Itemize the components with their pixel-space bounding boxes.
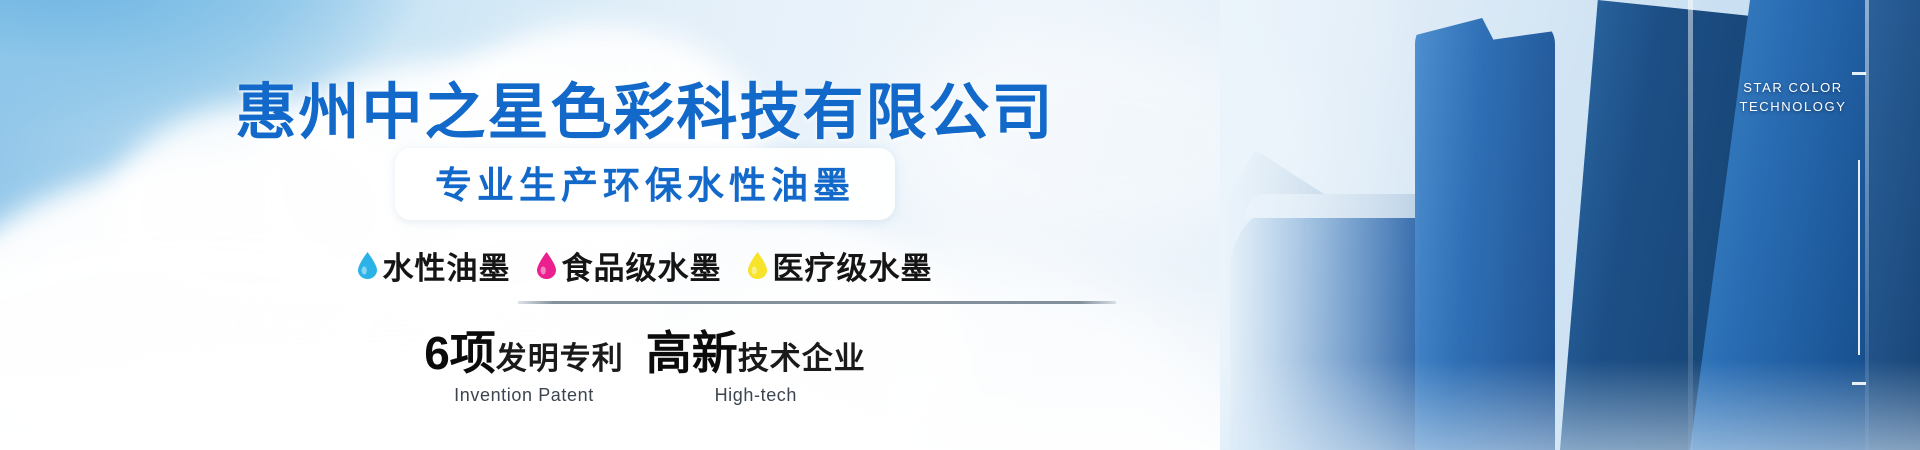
ink-type-label: 食品级水墨 (562, 243, 722, 288)
credential-badge-rest: 技术企业 (738, 341, 866, 376)
ink-type-label: 医疗级水墨 (773, 243, 933, 288)
droplet-icon (358, 252, 377, 279)
credential-badge: 6项发明专利Invention Patent (424, 330, 624, 406)
section-divider (518, 301, 1116, 304)
corner-brand-mark: STAR COLOR TECHNOLOGY (1718, 78, 1868, 116)
tagline-pill: 专业生产环保水性油墨 (395, 148, 895, 220)
credential-badge-english: High-tech (646, 385, 866, 406)
credential-badge-english: Invention Patent (424, 385, 624, 406)
accent-dash-bottom (1852, 382, 1866, 385)
droplet-icon (537, 252, 556, 279)
credential-badge-chinese: 6项发明专利 (424, 330, 624, 376)
credential-badge-emphasis: 高新 (646, 327, 738, 379)
credential-badge-list: 6项发明专利Invention Patent高新技术企业High-tech (0, 330, 1290, 406)
credential-badge-emphasis: 6项 (424, 327, 496, 379)
ink-type-item: 食品级水墨 (537, 243, 722, 288)
credential-badge-rest: 发明专利 (496, 341, 624, 376)
banner-content: 惠州中之星色彩科技有限公司 专业生产环保水性油墨 水性油墨食品级水墨医疗级水墨 … (0, 0, 1290, 450)
tagline-pill-wrapper: 专业生产环保水性油墨 (0, 148, 1290, 220)
credential-badge: 高新技术企业High-tech (646, 330, 866, 406)
skyline-photo (1220, 0, 1920, 450)
ink-type-list: 水性油墨食品级水墨医疗级水墨 (0, 243, 1290, 288)
ink-type-item: 医疗级水墨 (748, 243, 933, 288)
corner-brand-line-1: STAR COLOR (1718, 78, 1868, 97)
company-title: 惠州中之星色彩科技有限公司 (0, 62, 1290, 151)
accent-vertical-line (1858, 160, 1860, 355)
promotional-banner: Star Color STAR COLOR TECHNOLOGY 惠州中之星色彩… (0, 0, 1920, 450)
ink-type-item: 水性油墨 (358, 243, 511, 288)
accent-dash-top (1852, 72, 1866, 75)
corner-brand-line-2: TECHNOLOGY (1718, 97, 1868, 116)
skyline-bottom-fade (1220, 360, 1920, 450)
ink-type-label: 水性油墨 (383, 243, 511, 288)
credential-badge-chinese: 高新技术企业 (646, 330, 866, 376)
droplet-icon (748, 252, 767, 279)
